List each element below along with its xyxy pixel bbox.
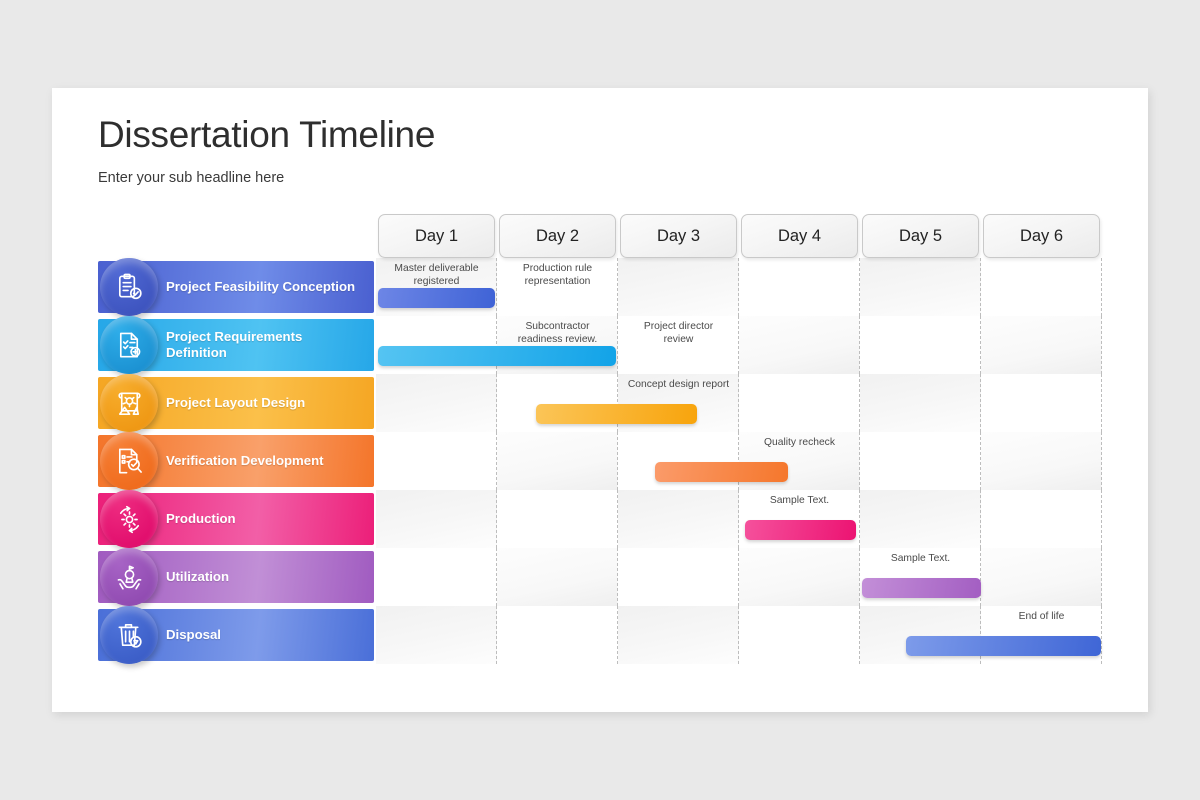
day-header-label: Day 2 xyxy=(536,227,579,246)
gantt-cell[interactable] xyxy=(376,432,497,490)
gantt-bar[interactable] xyxy=(655,462,788,482)
gantt-bar[interactable] xyxy=(378,346,616,366)
slide-canvas: Dissertation Timeline Enter your sub hea… xyxy=(0,0,1200,800)
gantt-task-label: Quality recheck xyxy=(742,436,857,449)
gantt-grid-body: Master deliverable registeredProduction … xyxy=(376,258,1102,664)
gantt-cell[interactable] xyxy=(497,490,618,548)
gantt-row: End of life xyxy=(376,606,1102,664)
gear-cycle-icon xyxy=(100,490,158,548)
gantt-cell[interactable] xyxy=(860,432,981,490)
clipboard-check-icon xyxy=(100,258,158,316)
gantt-row-label-text: Utilization xyxy=(166,569,237,586)
gantt-cell[interactable] xyxy=(739,374,860,432)
title-block: Dissertation Timeline Enter your sub hea… xyxy=(98,114,435,186)
gantt-row-label-text: Project Layout Design xyxy=(166,395,313,412)
day-header-5[interactable]: Day 5 xyxy=(862,214,979,258)
gantt-cell[interactable] xyxy=(981,374,1102,432)
gantt-task-label: Master deliverable registered xyxy=(379,262,494,288)
blueprint-idea-icon xyxy=(100,374,158,432)
gantt-cell[interactable] xyxy=(618,548,739,606)
gantt-row-label[interactable]: Disposal xyxy=(98,609,374,661)
gantt-task-label: Subcontractor readiness review. xyxy=(500,320,615,346)
gantt-cell[interactable] xyxy=(860,374,981,432)
day-header-2[interactable]: Day 2 xyxy=(499,214,616,258)
day-header-label: Day 3 xyxy=(657,227,700,246)
gantt-row: Sample Text. xyxy=(376,548,1102,606)
gantt-bar[interactable] xyxy=(745,520,856,540)
gantt-row-label-text: Project Requirements Definition xyxy=(166,329,374,362)
gantt-row-label[interactable]: Project Feasibility Conception xyxy=(98,261,374,313)
gantt-row-label[interactable]: Project Requirements Definition xyxy=(98,319,374,371)
gantt-row: Subcontractor readiness review.Project d… xyxy=(376,316,1102,374)
gantt-cell[interactable] xyxy=(376,490,497,548)
day-header-label: Day 5 xyxy=(899,227,942,246)
hands-award-icon xyxy=(100,548,158,606)
gantt-cell[interactable] xyxy=(860,316,981,374)
gantt-row-label-column: Project Feasibility ConceptionProject Re… xyxy=(98,214,374,664)
gantt-cell[interactable] xyxy=(860,258,981,316)
day-header-1[interactable]: Day 1 xyxy=(378,214,495,258)
gantt-row: Sample Text. xyxy=(376,490,1102,548)
document-magnifier-icon xyxy=(100,432,158,490)
gantt-row-label[interactable]: Project Layout Design xyxy=(98,377,374,429)
gantt-cell[interactable] xyxy=(497,606,618,664)
page-title: Dissertation Timeline xyxy=(98,114,435,156)
gantt-cell[interactable] xyxy=(739,258,860,316)
gantt-cell[interactable] xyxy=(981,316,1102,374)
gantt-bar[interactable] xyxy=(862,578,981,598)
gantt-cell[interactable] xyxy=(497,548,618,606)
gantt-cell[interactable] xyxy=(981,490,1102,548)
gantt-cell[interactable] xyxy=(376,548,497,606)
gantt-task-label: Sample Text. xyxy=(742,494,857,507)
gantt-task-label: Project director review xyxy=(621,320,736,346)
gantt-cell[interactable] xyxy=(860,490,981,548)
gantt-task-label: End of life xyxy=(984,610,1099,623)
day-header-label: Day 6 xyxy=(1020,227,1063,246)
gantt-cell[interactable] xyxy=(739,606,860,664)
gantt-cell[interactable] xyxy=(618,258,739,316)
day-header-4[interactable]: Day 4 xyxy=(741,214,858,258)
gantt-row-label[interactable]: Utilization xyxy=(98,551,374,603)
gantt-row-label-text: Disposal xyxy=(166,627,229,644)
gantt-cell[interactable] xyxy=(739,548,860,606)
slide-card: Dissertation Timeline Enter your sub hea… xyxy=(52,88,1148,712)
gantt-row-label-text: Production xyxy=(166,511,244,528)
gantt-row-label-text: Verification Development xyxy=(166,453,332,470)
day-header-3[interactable]: Day 3 xyxy=(620,214,737,258)
gantt-chart: Project Feasibility ConceptionProject Re… xyxy=(98,214,1102,664)
gantt-cell[interactable] xyxy=(981,432,1102,490)
gantt-bar[interactable] xyxy=(378,288,495,308)
document-checklist-icon xyxy=(100,316,158,374)
day-header-label: Day 4 xyxy=(778,227,821,246)
gantt-cell[interactable] xyxy=(981,258,1102,316)
page-subtitle: Enter your sub headline here xyxy=(98,170,435,186)
gantt-cell[interactable] xyxy=(981,548,1102,606)
gantt-row-label[interactable]: Verification Development xyxy=(98,435,374,487)
gantt-cell[interactable] xyxy=(618,606,739,664)
gantt-row-label-text: Project Feasibility Conception xyxy=(166,279,363,296)
gantt-task-label: Sample Text. xyxy=(863,552,978,565)
gantt-grid-wrapper: Day 1Day 2Day 3Day 4Day 5Day 6 Master de… xyxy=(376,214,1102,664)
gantt-cell[interactable] xyxy=(497,432,618,490)
gantt-cell[interactable] xyxy=(739,316,860,374)
gantt-bar[interactable] xyxy=(536,404,697,424)
gantt-row: Master deliverable registeredProduction … xyxy=(376,258,1102,316)
gantt-cell[interactable] xyxy=(376,374,497,432)
gantt-task-label: Production rule representation xyxy=(500,262,615,288)
trash-recycle-icon xyxy=(100,606,158,664)
gantt-bar[interactable] xyxy=(906,636,1101,656)
day-header-label: Day 1 xyxy=(415,227,458,246)
gantt-day-header-row: Day 1Day 2Day 3Day 4Day 5Day 6 xyxy=(376,214,1102,258)
gantt-cell[interactable] xyxy=(618,490,739,548)
gantt-cell[interactable] xyxy=(376,606,497,664)
gantt-row: Quality recheck xyxy=(376,432,1102,490)
gantt-row-label[interactable]: Production xyxy=(98,493,374,545)
gantt-row: Concept design report xyxy=(376,374,1102,432)
day-header-6[interactable]: Day 6 xyxy=(983,214,1100,258)
gantt-task-label: Concept design report xyxy=(621,378,736,391)
